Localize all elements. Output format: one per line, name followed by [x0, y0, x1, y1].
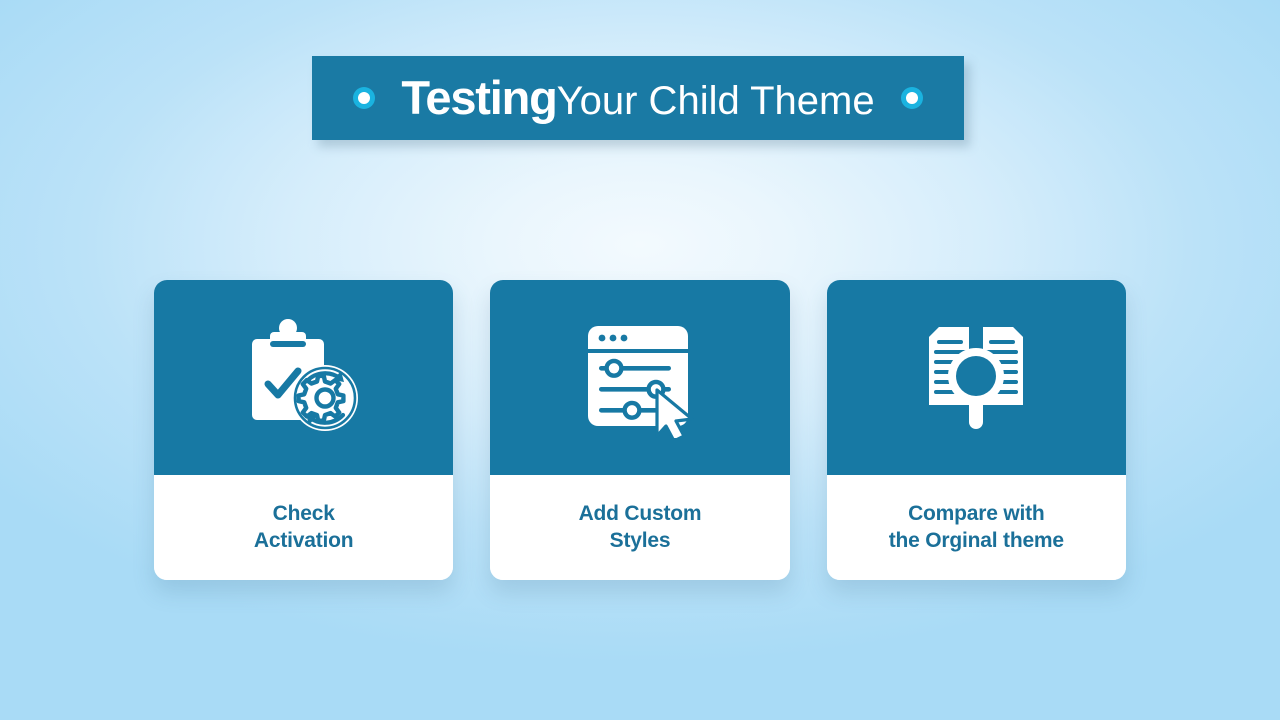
page-title-light: Your Child Theme [557, 79, 875, 123]
documents-magnifier-icon [915, 317, 1037, 439]
card-icon-area [154, 280, 453, 475]
banner-bar: TestingYour Child Theme [312, 56, 964, 140]
card-label: Check Activation [254, 501, 354, 555]
browser-sliders-cursor-icon [580, 318, 700, 438]
card-compare-original-theme[interactable]: Compare with the Orginal theme [827, 280, 1126, 580]
card-label: Add Custom Styles [579, 501, 702, 555]
card-label: Compare with the Orginal theme [889, 501, 1064, 555]
bullet-dot-icon-left [353, 87, 375, 109]
card-row: Check Activation [154, 280, 1126, 580]
clipboard-check-gear-icon [241, 315, 367, 441]
card-add-custom-styles[interactable]: Add Custom Styles [490, 280, 789, 580]
card-label-area: Check Activation [154, 475, 453, 580]
card-label-area: Compare with the Orginal theme [827, 475, 1126, 580]
card-icon-area [827, 280, 1126, 475]
card-label-area: Add Custom Styles [490, 475, 789, 580]
bullet-dot-icon-right [901, 87, 923, 109]
page-title-strong: Testing [401, 71, 556, 124]
card-check-activation[interactable]: Check Activation [154, 280, 453, 580]
page-title: TestingYour Child Theme [401, 74, 874, 121]
title-banner: TestingYour Child Theme [312, 56, 964, 140]
card-icon-area [490, 280, 789, 475]
